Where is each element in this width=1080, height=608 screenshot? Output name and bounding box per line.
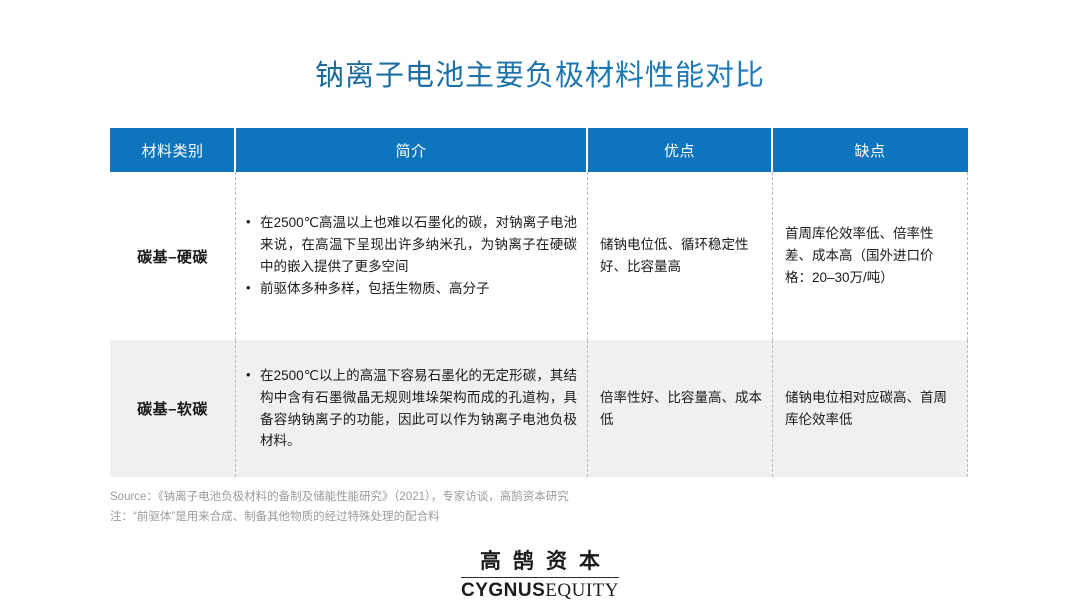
column-header-intro: 简介 <box>235 128 587 172</box>
cell-intro: 在2500℃高温以上也难以石墨化的碳，对钠离子电池来说，在高温下呈现出许多纳米孔… <box>235 172 587 340</box>
logo-english-bold: CYGNUS <box>461 580 545 601</box>
table-row: 碳基–软碳 在2500℃以上的高温下容易石墨化的无定形碳，其结构中含有石墨微晶无… <box>110 340 968 477</box>
page-title: 钠离子电池主要负极材料性能对比 <box>0 52 1080 94</box>
pros-text: 储钠电位低、循环稳定性好、比容量高 <box>597 234 762 278</box>
cell-cons: 储钠电位相对应碳高、首周库伦效率低 <box>772 340 968 477</box>
brand-logo: 高鹄资本 CYGNUSEQUITY <box>0 548 1080 602</box>
intro-bullet-list: 在2500℃以上的高温下容易石墨化的无定形碳，其结构中含有石墨微晶无规则堆垛架构… <box>245 365 577 452</box>
logo-english-name: CYGNUSEQUITY <box>461 581 619 602</box>
cell-cons: 首周库伦效率低、倍率性差、成本高（国外进口价格：20–30万/吨） <box>772 172 968 340</box>
cell-category: 碳基–硬碳 <box>110 172 235 340</box>
intro-bullet-list: 在2500℃高温以上也难以石墨化的碳，对钠离子电池来说，在高温下呈现出许多纳米孔… <box>245 212 577 299</box>
column-header-cons: 缺点 <box>772 128 968 172</box>
column-header-pros: 优点 <box>587 128 772 172</box>
source-line: Source：《钠离子电池负极材料的备制及储能性能研究》（2021），专家访谈，… <box>110 487 910 507</box>
logo-english-regular: EQUITY <box>545 580 619 601</box>
footer-notes: Source：《钠离子电池负极材料的备制及储能性能研究》（2021），专家访谈，… <box>110 487 910 527</box>
cell-pros: 倍率性好、比容量高、成本低 <box>587 340 772 477</box>
table-row: 碳基–硬碳 在2500℃高温以上也难以石墨化的碳，对钠离子电池来说，在高温下呈现… <box>110 172 968 340</box>
table-header-row: 材料类别 简介 优点 缺点 <box>110 128 968 172</box>
pros-text: 倍率性好、比容量高、成本低 <box>597 387 762 431</box>
slide-canvas: 钠离子电池主要负极材料性能对比 材料类别 简介 优点 缺点 碳基–硬碳 在250… <box>0 0 1080 608</box>
list-item: 在2500℃高温以上也难以石墨化的碳，对钠离子电池来说，在高温下呈现出许多纳米孔… <box>245 212 577 278</box>
note-line: 注：“前驱体”是用来合成、制备其他物质的经过特殊处理的配合料 <box>110 507 910 527</box>
logo-chinese-name: 高鹄资本 <box>461 548 619 578</box>
cell-category: 碳基–软碳 <box>110 340 235 477</box>
category-label: 碳基–软碳 <box>120 398 225 419</box>
logo-inner: 高鹄资本 CYGNUSEQUITY <box>461 548 619 602</box>
category-label: 碳基–硬碳 <box>120 246 225 267</box>
comparison-table: 材料类别 简介 优点 缺点 碳基–硬碳 在2500℃高温以上也难以石墨化的碳，对… <box>110 128 968 477</box>
cons-text: 储钠电位相对应碳高、首周库伦效率低 <box>782 387 958 431</box>
list-item: 前驱体多种多样，包括生物质、高分子 <box>245 278 577 300</box>
cell-pros: 储钠电位低、循环稳定性好、比容量高 <box>587 172 772 340</box>
column-header-category: 材料类别 <box>110 128 235 172</box>
cell-intro: 在2500℃以上的高温下容易石墨化的无定形碳，其结构中含有石墨微晶无规则堆垛架构… <box>235 340 587 477</box>
list-item: 在2500℃以上的高温下容易石墨化的无定形碳，其结构中含有石墨微晶无规则堆垛架构… <box>245 365 577 452</box>
table-body: 碳基–硬碳 在2500℃高温以上也难以石墨化的碳，对钠离子电池来说，在高温下呈现… <box>110 172 968 477</box>
cons-text: 首周库伦效率低、倍率性差、成本高（国外进口价格：20–30万/吨） <box>782 223 958 289</box>
